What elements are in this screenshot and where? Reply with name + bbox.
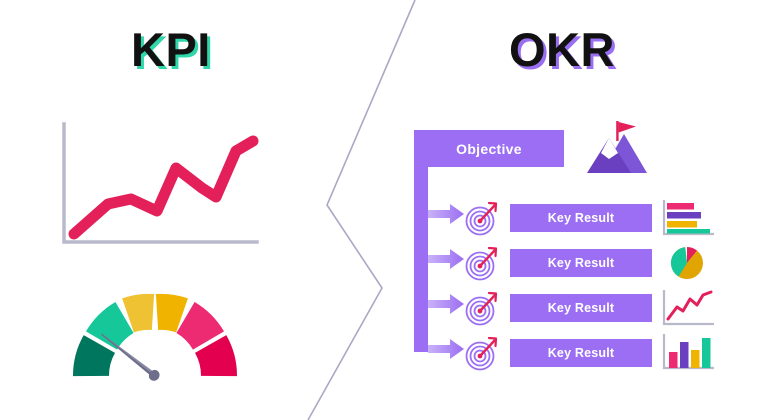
okr-mini-line-chart xyxy=(656,286,718,330)
key-result-box-4[interactable]: Key Result xyxy=(510,339,652,367)
kpi-trend-line-chart xyxy=(52,118,267,253)
okr-mini-vertical-bar-chart xyxy=(656,330,718,374)
kpi-gauge-meter xyxy=(55,276,255,386)
key-result-label: Key Result xyxy=(548,256,615,270)
key-result-box-1[interactable]: Key Result xyxy=(510,204,652,232)
kpi-title: KPI xyxy=(131,26,211,73)
objective-box[interactable]: Objective xyxy=(414,130,564,167)
target-bullseye-icon xyxy=(462,333,502,373)
okr-mini-horizontal-bar-chart xyxy=(656,196,718,240)
key-result-label: Key Result xyxy=(548,301,615,315)
objective-label: Objective xyxy=(456,141,522,157)
key-result-label: Key Result xyxy=(548,346,615,360)
mountain-flag-icon xyxy=(584,118,656,180)
target-bullseye-icon xyxy=(462,198,502,238)
key-result-label: Key Result xyxy=(548,211,615,225)
infographic-canvas: KPI OKR xyxy=(0,0,768,420)
target-bullseye-icon xyxy=(462,243,502,283)
okr-title: OKR xyxy=(509,26,615,73)
key-result-box-2[interactable]: Key Result xyxy=(510,249,652,277)
target-bullseye-icon xyxy=(462,288,502,328)
key-result-box-3[interactable]: Key Result xyxy=(510,294,652,322)
okr-mini-pie-chart xyxy=(656,241,718,285)
okr-diagram: Objective Key Result xyxy=(398,108,738,388)
